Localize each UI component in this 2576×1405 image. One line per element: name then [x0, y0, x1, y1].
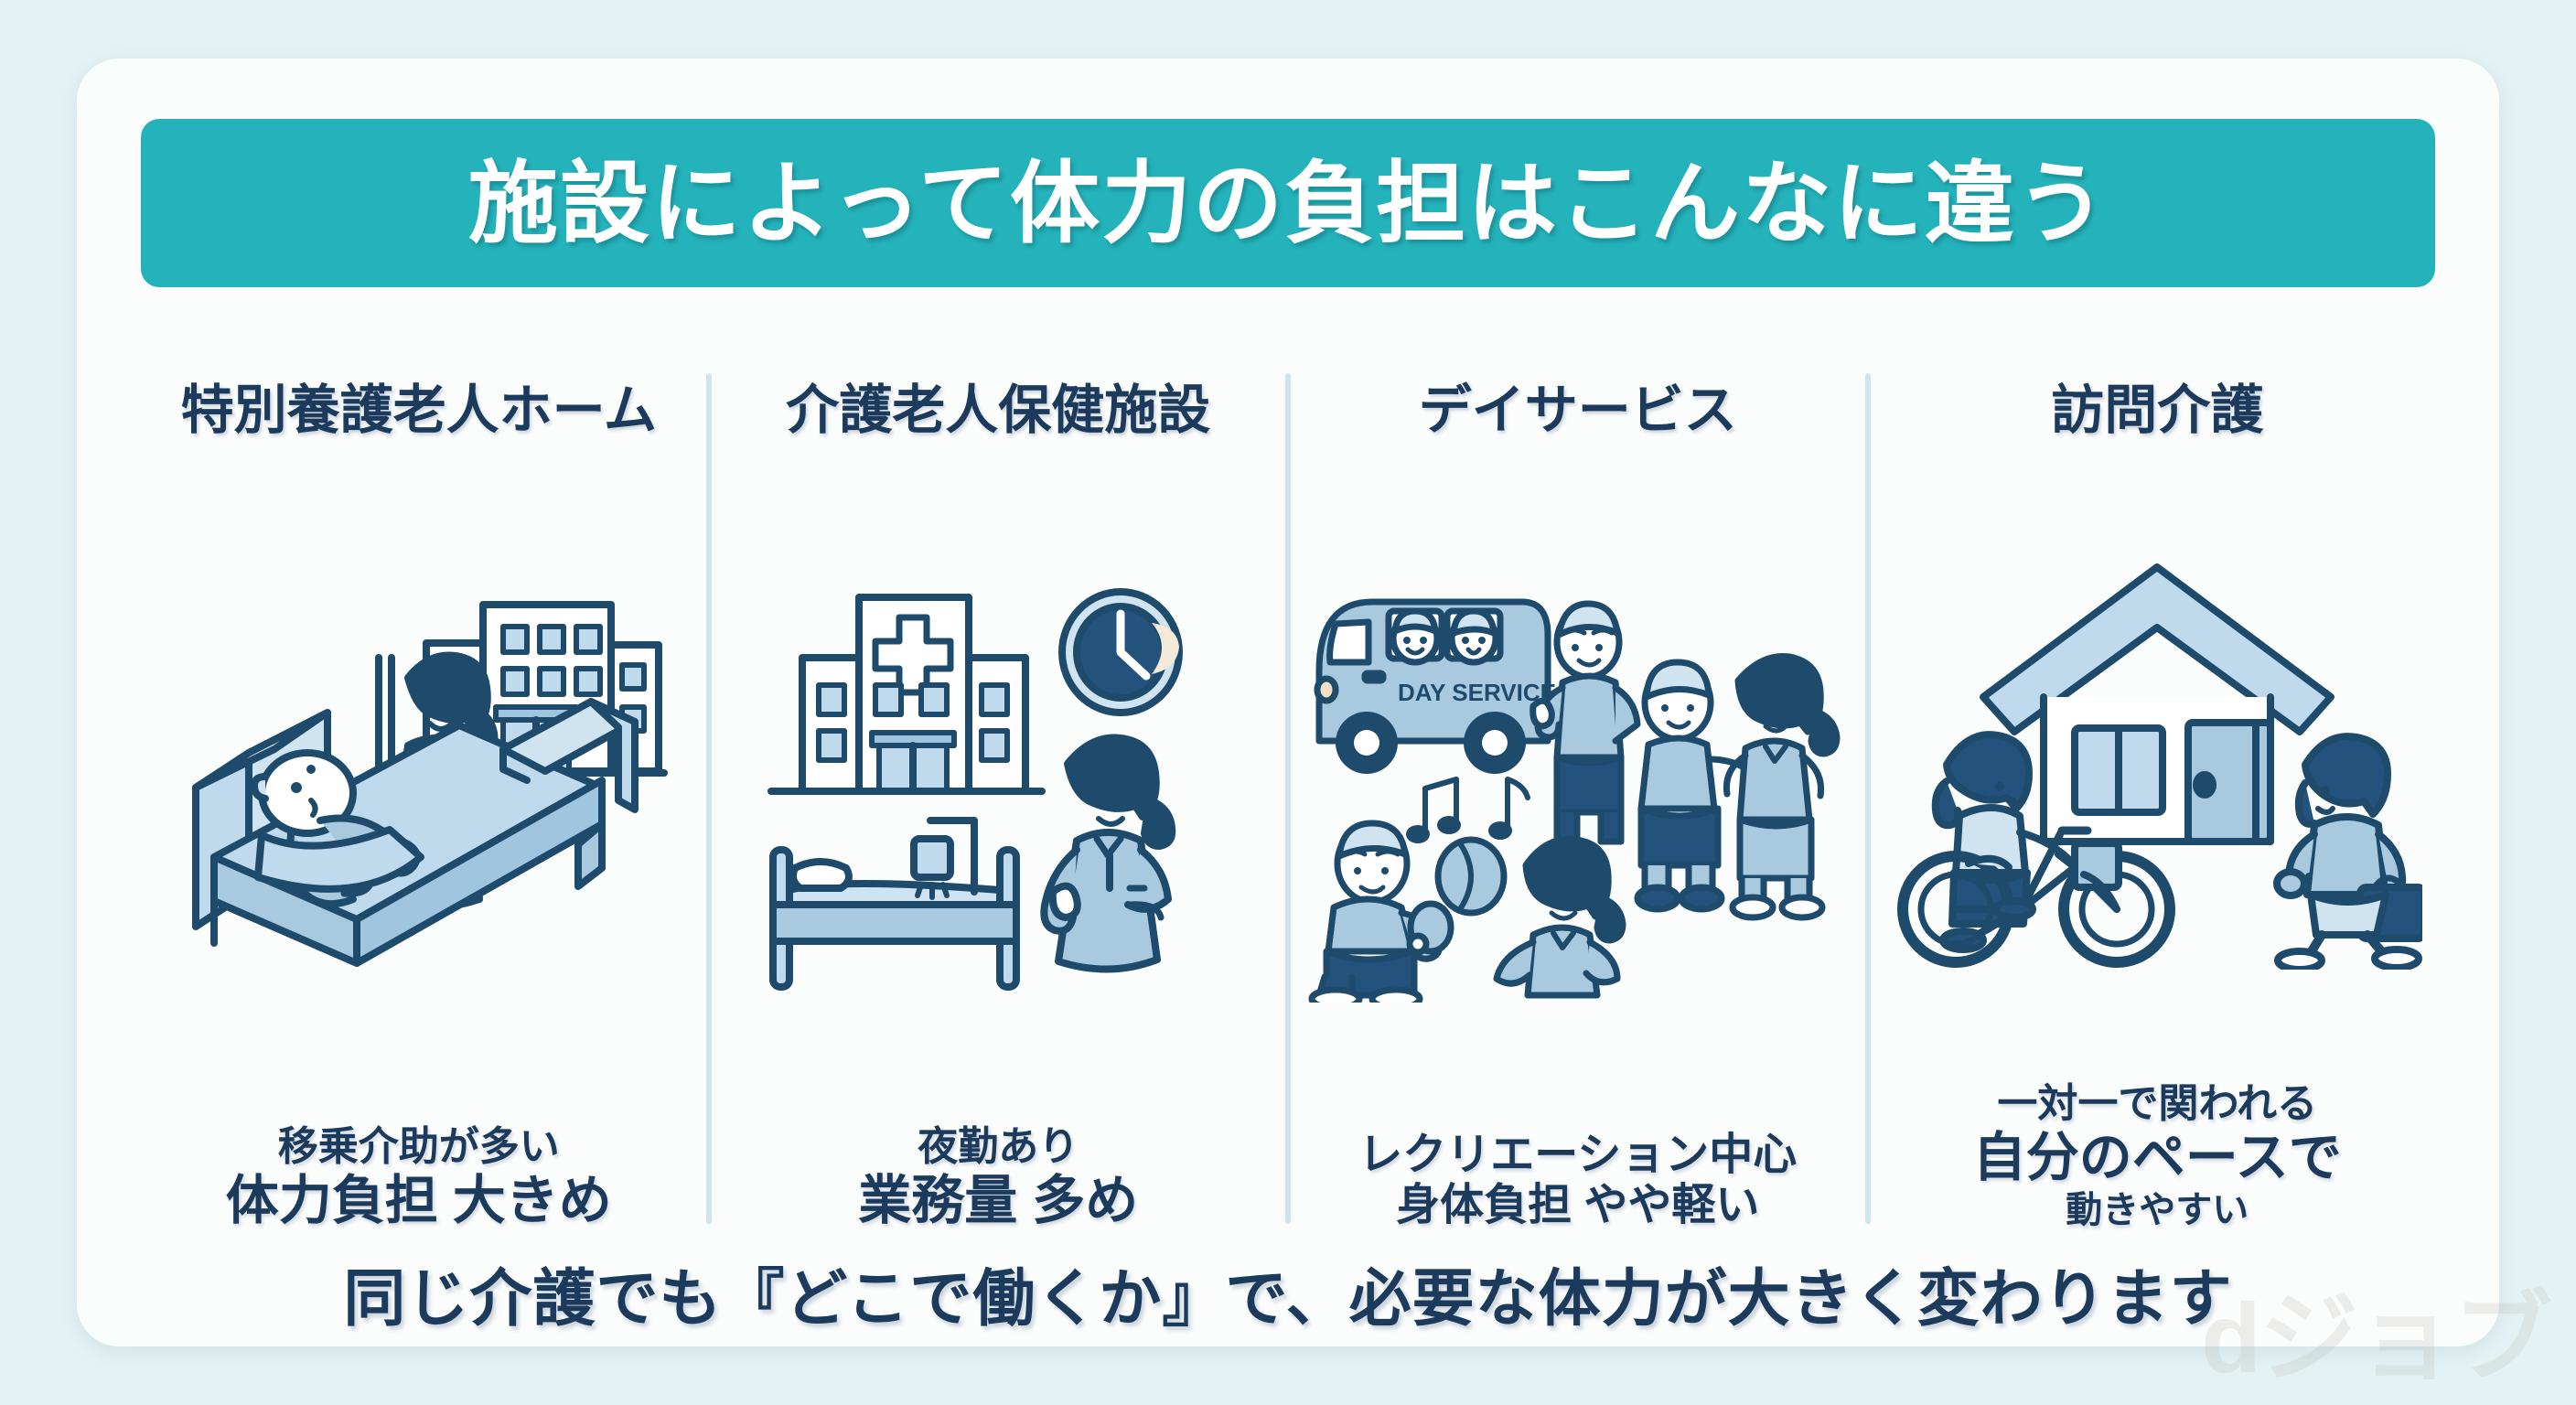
caption-line: レクリエーション中心 — [1358, 1130, 1797, 1181]
footer-text: 同じ介護でも『どこで働くか』で、必要な体力が大きく変わります — [343, 1264, 2232, 1334]
infographic-card: 施設によって体力の負担はこんなに違う 特別養護老人ホーム — [77, 59, 2499, 1346]
column-special-nursing-home: 特別養護老人ホーム — [132, 333, 706, 1239]
column-caption: 移乗介助が多い 体力負担 大きめ — [226, 1123, 612, 1239]
day-service-van-recreation-illustration: DAY SERVICE — [1291, 437, 1865, 1130]
caption-line: 業務量 多め — [858, 1170, 1138, 1231]
home-visit-bicycle-illustration — [1871, 437, 2445, 1080]
column-caption: 夜勤あり 業務量 多め — [858, 1123, 1138, 1239]
column-home-visit-care: 訪問介護 — [1871, 333, 2445, 1239]
column-caption: レクリエーション中心 身体負担 やや軽い — [1358, 1130, 1797, 1239]
caption-line: 夜勤あり — [858, 1123, 1138, 1170]
column-title: 訪問介護 — [2051, 384, 2263, 437]
caption-line: 一対一で関われる — [1973, 1080, 2342, 1127]
column-geriatric-health-facility: 介護老人保健施設 — [712, 333, 1286, 1239]
column-caption: 一対一で関われる 自分のペースで 動きやすい — [1973, 1080, 2342, 1239]
caption-line: 自分のペースで — [1973, 1127, 2342, 1188]
caption-line: 体力負担 大きめ — [226, 1170, 612, 1231]
column-title: デイサービス — [1419, 384, 1737, 437]
caption-line: 動きやすい — [1973, 1189, 2342, 1231]
title-banner: 施設によって体力の負担はこんなに違う — [141, 119, 2435, 287]
page-title: 施設によって体力の負担はこんなに違う — [468, 158, 2108, 248]
caption-line: 移乗介助が多い — [226, 1123, 612, 1170]
column-title: 特別養護老人ホーム — [181, 384, 657, 437]
footer: 同じ介護でも『どこで働くか』で、必要な体力が大きく変わります — [77, 1248, 2499, 1338]
hospital-nightshift-nurse-illustration — [712, 437, 1286, 1123]
caption-line: 身体負担 やや軽い — [1358, 1180, 1797, 1231]
column-title: 介護老人保健施設 — [786, 384, 1210, 437]
column-day-service: デイサービス — [1291, 333, 1865, 1239]
van-label: DAY SERVICE — [1398, 679, 1556, 706]
caregiver-bed-facility-illustration — [132, 437, 706, 1123]
comparison-columns: 特別養護老人ホーム — [132, 333, 2444, 1239]
